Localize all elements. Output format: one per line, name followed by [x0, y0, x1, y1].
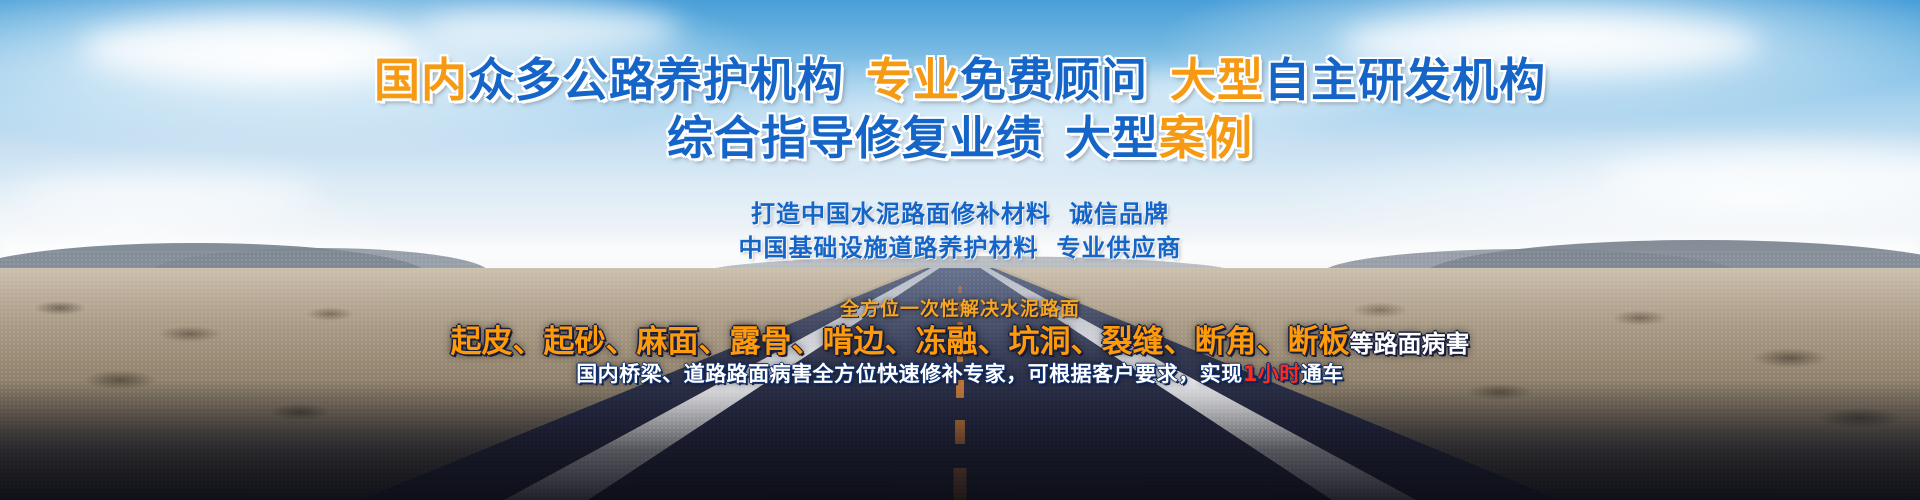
headline-seg-guonei: 国内	[374, 53, 468, 107]
headline-line-1: 国内众多公路养护机构专业免费顾问大型自主研发机构	[0, 44, 1920, 110]
bottom-defects-line: 起皮、起砂、麻面、露骨、啃边、冻融、坑洞、裂缝、断角、断板等路面病害	[0, 316, 1920, 361]
subtitle-1-brand: 诚信品牌	[1069, 200, 1169, 228]
defect-list: 起皮、起砂、麻面、露骨、啃边、冻融、坑洞、裂缝、断角、断板	[451, 324, 1350, 360]
headline-seg-daxing: 大型	[1170, 53, 1264, 107]
headline-seg-zonghe: 综合指导修复业绩	[667, 111, 1043, 165]
subtitle-line-2: 中国基础设施道路养护材料专业供应商	[0, 228, 1920, 263]
headline-seg-anli: 案例	[1159, 111, 1253, 165]
headline-seg-zhuanye: 专业	[866, 53, 960, 107]
claim-text-a: 国内桥梁、道路路面病害全方位快速修补专家，可根据客户要求，实现	[576, 362, 1243, 386]
headline-seg-zizhu: 自主研发机构	[1264, 53, 1546, 107]
subtitle-1-main: 打造中国水泥路面修补材料	[751, 200, 1051, 228]
headline-seg-mianfei: 免费顾问	[960, 53, 1148, 107]
headline-line-2: 综合指导修复业绩大型案例	[0, 102, 1920, 168]
claim-highlight: 1小时	[1243, 362, 1301, 386]
claim-text-b: 通车	[1301, 362, 1344, 386]
subtitle-line-1: 打造中国水泥路面修补材料诚信品牌	[0, 194, 1920, 229]
subtitle-2-main: 中国基础设施道路养护材料	[739, 234, 1039, 262]
headline-seg-daxing-2: 大型	[1065, 111, 1159, 165]
headline-seg-zhongduo: 众多公路养护机构	[468, 53, 844, 107]
bottom-claim-line: 国内桥梁、道路路面病害全方位快速修补专家，可根据客户要求，实现1小时通车	[0, 358, 1920, 388]
text-overlay: 国内众多公路养护机构专业免费顾问大型自主研发机构 综合指导修复业绩大型案例 打造…	[0, 0, 1920, 500]
subtitle-2-supplier: 专业供应商	[1057, 234, 1182, 262]
defect-list-tail: 等路面病害	[1350, 330, 1470, 358]
promo-banner: 国内众多公路养护机构专业免费顾问大型自主研发机构 综合指导修复业绩大型案例 打造…	[0, 0, 1920, 500]
